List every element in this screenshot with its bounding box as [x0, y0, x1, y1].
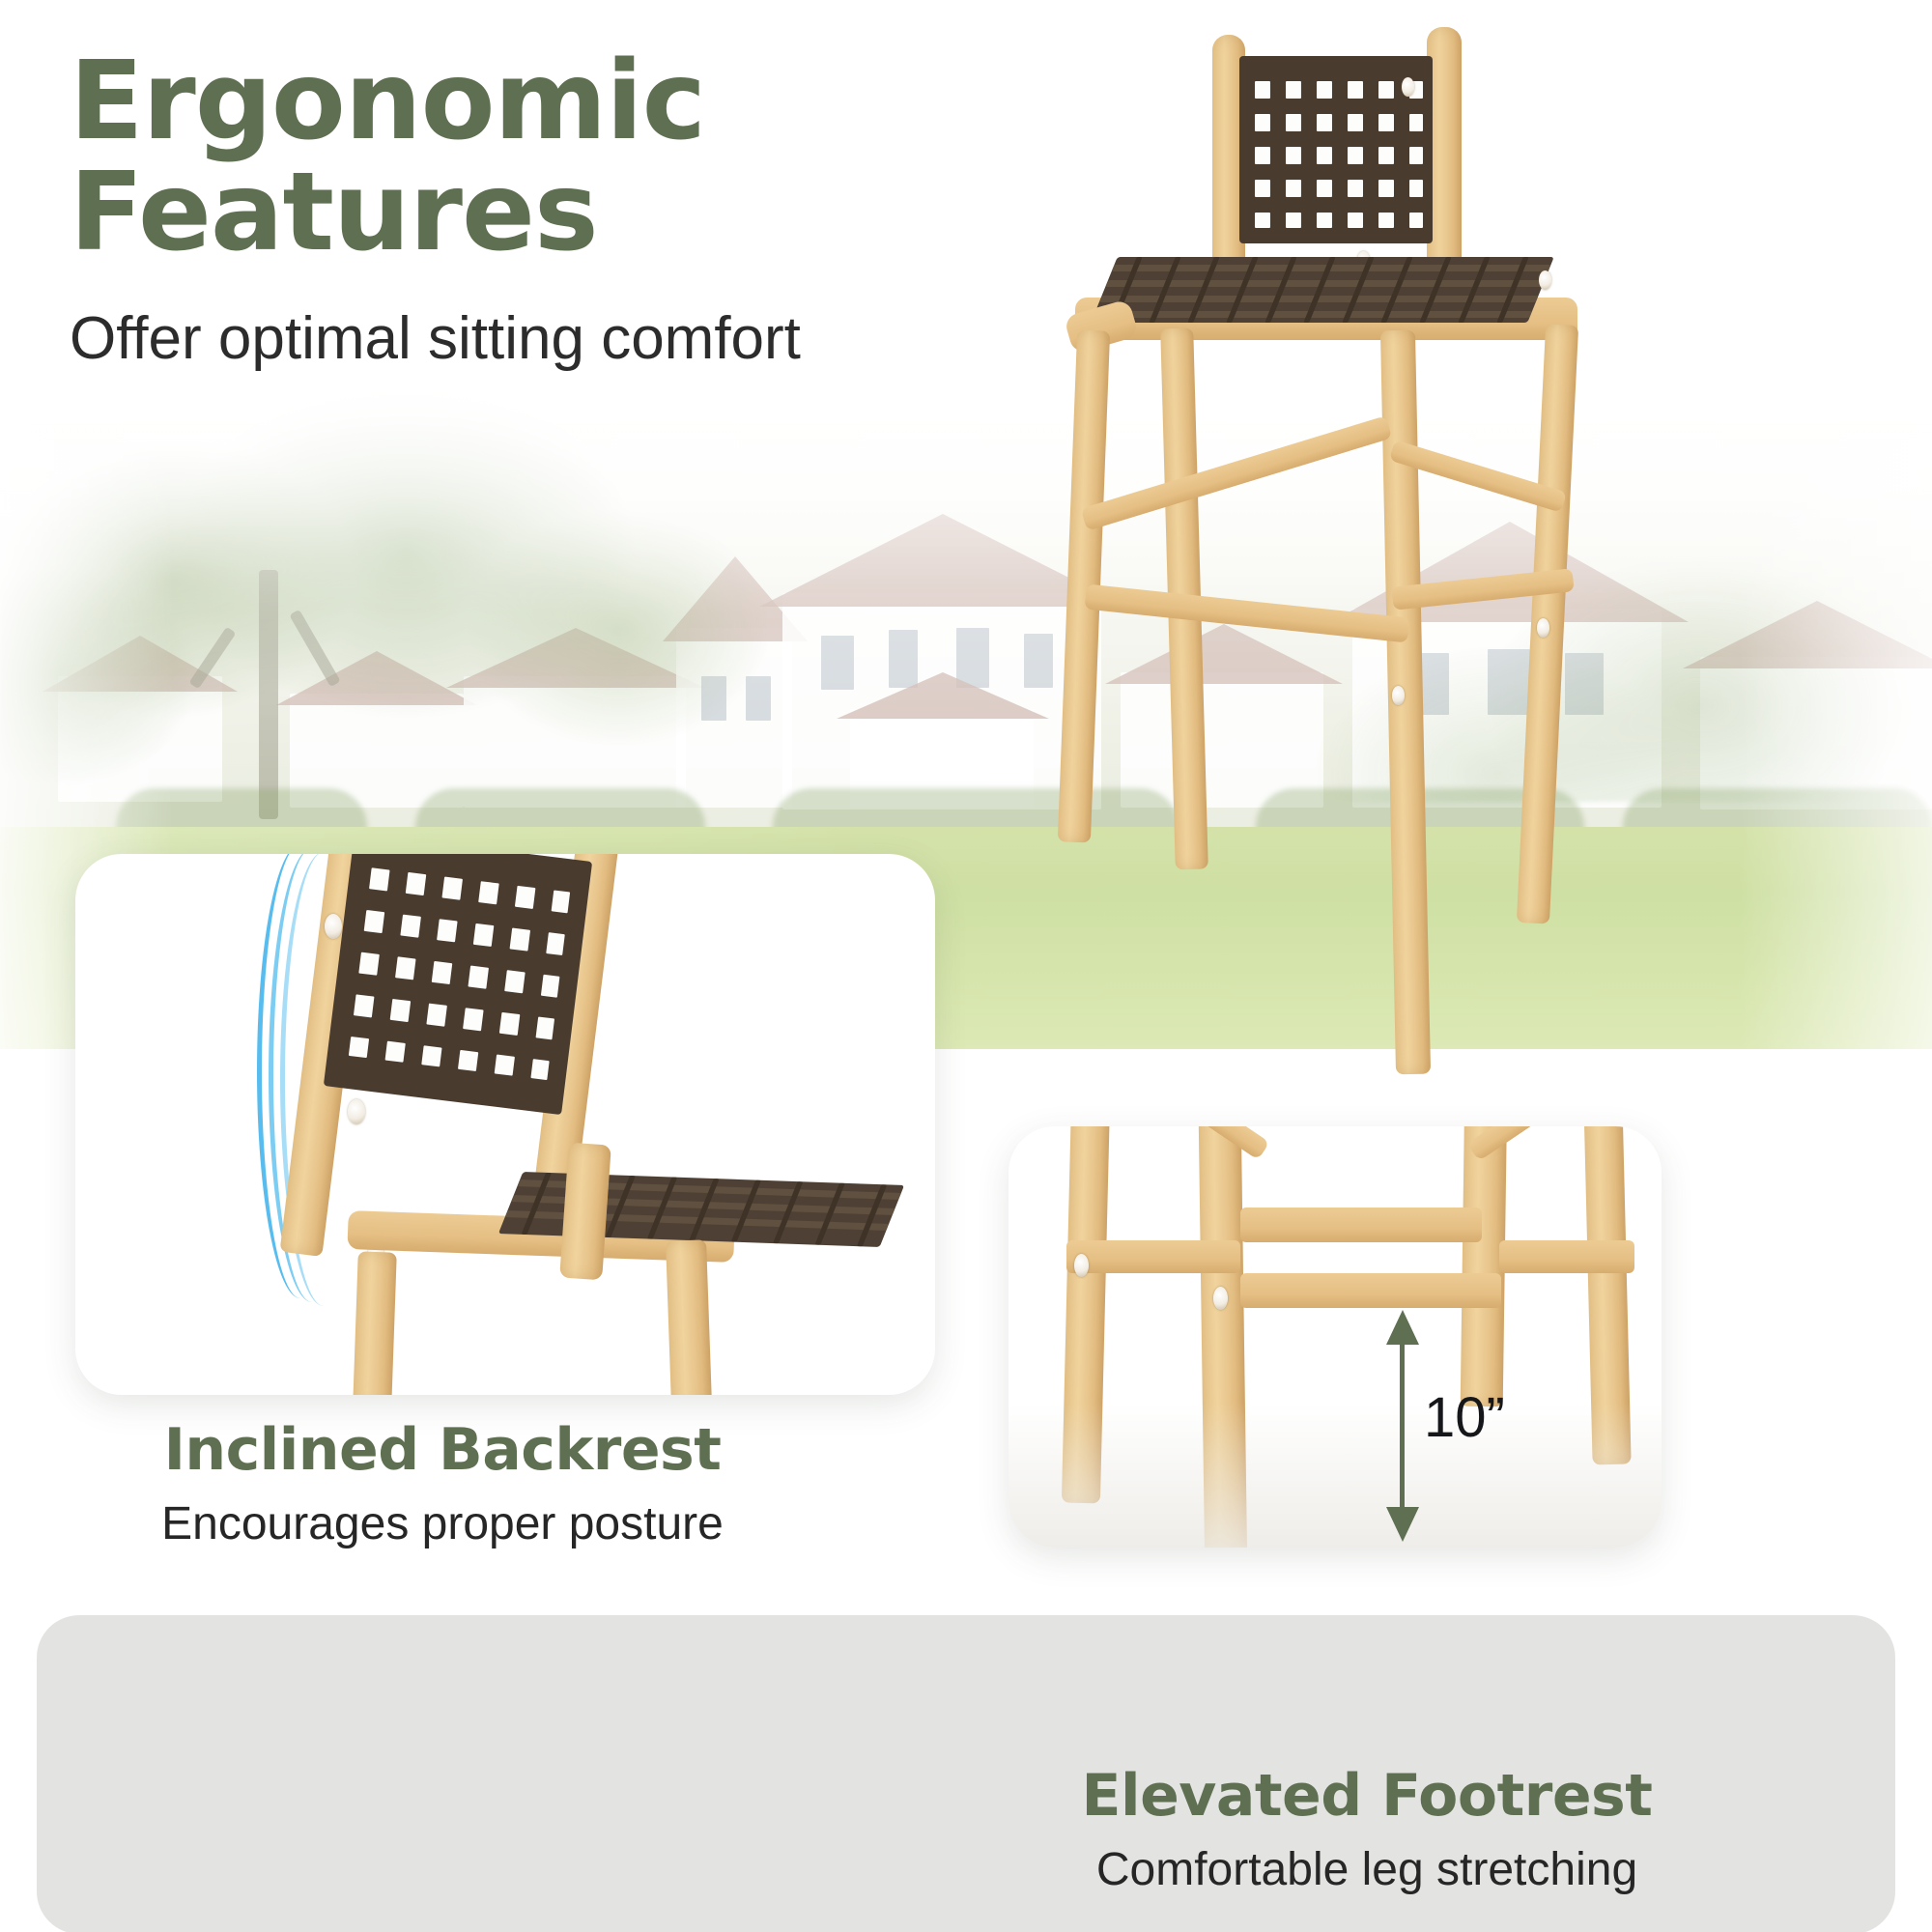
- assembly-peg: [325, 914, 342, 939]
- assembly-peg: [1537, 618, 1549, 638]
- feature-title-inclined-backrest: Inclined Backrest: [75, 1418, 810, 1482]
- seat-side-rail: [559, 1143, 611, 1281]
- feature-card-inclined-backrest: [75, 854, 935, 1395]
- assembly-peg: [1392, 686, 1405, 705]
- page-subtitle: Offer optimal sitting comfort: [70, 306, 1229, 372]
- dimension-line: [1400, 1331, 1405, 1515]
- footrest-rail-left: [1066, 1240, 1240, 1273]
- feature-subtitle-inclined-backrest: Encourages proper posture: [75, 1497, 810, 1550]
- leg-front-right: [1380, 330, 1431, 1075]
- feature-card-elevated-footrest: 10”: [1009, 1126, 1662, 1548]
- footrest-rail-front: [1240, 1273, 1501, 1308]
- assembly-peg: [348, 1099, 365, 1124]
- assembly-peg: [1213, 1287, 1228, 1310]
- caption-elevated-footrest: Elevated Footrest Comfortable leg stretc…: [980, 1764, 1753, 1896]
- leg-front-detail: [353, 1251, 397, 1395]
- floor-shadow: [1009, 1403, 1662, 1548]
- assembly-peg: [1402, 77, 1414, 97]
- woven-backrest-panel-detail: [324, 854, 592, 1115]
- feature-subtitle-elevated-footrest: Comfortable leg stretching: [980, 1843, 1753, 1896]
- footrest-rail-right: [1499, 1240, 1634, 1273]
- caption-inclined-backrest: Inclined Backrest Encourages proper post…: [75, 1418, 810, 1550]
- assembly-peg: [1539, 270, 1551, 290]
- feature-title-elevated-footrest: Elevated Footrest: [980, 1764, 1753, 1828]
- leg-back-detail: [666, 1239, 712, 1395]
- dimension-label: 10”: [1424, 1385, 1505, 1450]
- marketing-infographic: Ergonomic Features Offer optimal sitting…: [0, 0, 1932, 1932]
- assembly-peg: [1074, 1254, 1089, 1277]
- page-title: Ergonomic Features: [70, 46, 1229, 270]
- footrest-rail-back: [1240, 1207, 1482, 1242]
- headline-block: Ergonomic Features Offer optimal sitting…: [70, 46, 1229, 372]
- hero-bar-stool-image: [1212, 21, 1850, 1094]
- dimension-arrow-down: [1386, 1507, 1419, 1542]
